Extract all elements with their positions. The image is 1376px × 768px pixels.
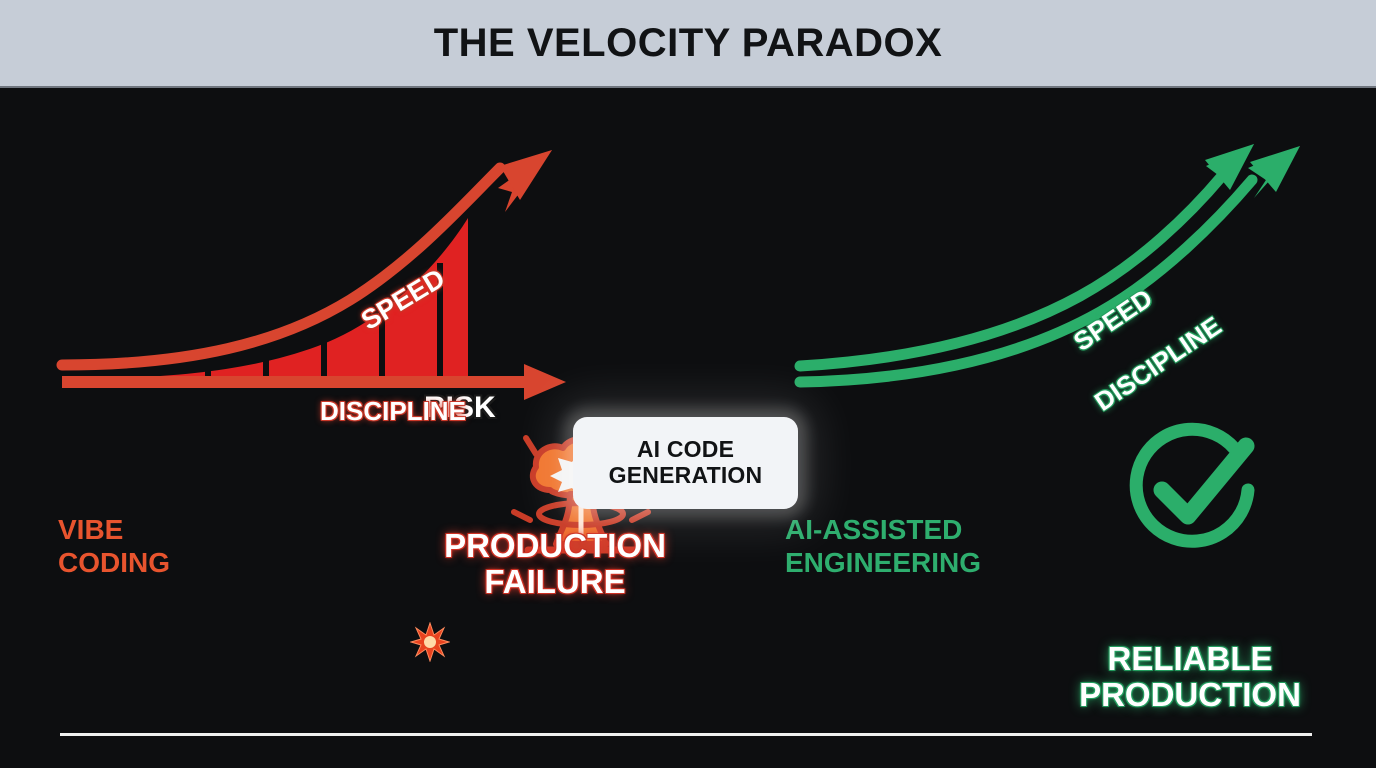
page-title: THE VELOCITY PARADOX [434,21,943,66]
discipline-arrow-red-head [524,364,566,400]
footer-caption: Speed without verification is not veloci… [0,764,1376,768]
discipline-label-red: DISCIPLINE [320,396,466,427]
infographic-root: THE VELOCITY PARADOX [0,0,1376,768]
failure-line-2: FAILURE [390,564,720,600]
speed-curve-red [62,150,552,365]
card-line-1: AI CODE [637,437,734,463]
burst-icon [410,622,450,662]
ai-code-generation-card[interactable]: AI CODE GENERATION [573,417,798,509]
outcome-reliable-production: RELIABLE PRODUCTION [1025,513,1355,714]
diagram-canvas: SPEED RISK DISCIPLINE SPEED DISCIPLINE A… [0,88,1376,768]
success-line-2: PRODUCTION [1025,677,1355,713]
footer-divider [60,733,1312,736]
header-bar: THE VELOCITY PARADOX [0,0,1376,88]
stage-label-vibe-coding: VIBE CODING [58,513,170,579]
outcome-production-failure: PRODUCTION FAILURE [390,520,720,601]
card-line-2: GENERATION [609,463,763,489]
stage-label-ai-assisted-engineering: AI-ASSISTED ENGINEERING [785,513,981,579]
discipline-curve-green-arrowhead [1250,146,1300,192]
failure-line-1: PRODUCTION [390,528,720,564]
success-line-1: RELIABLE [1025,641,1355,677]
